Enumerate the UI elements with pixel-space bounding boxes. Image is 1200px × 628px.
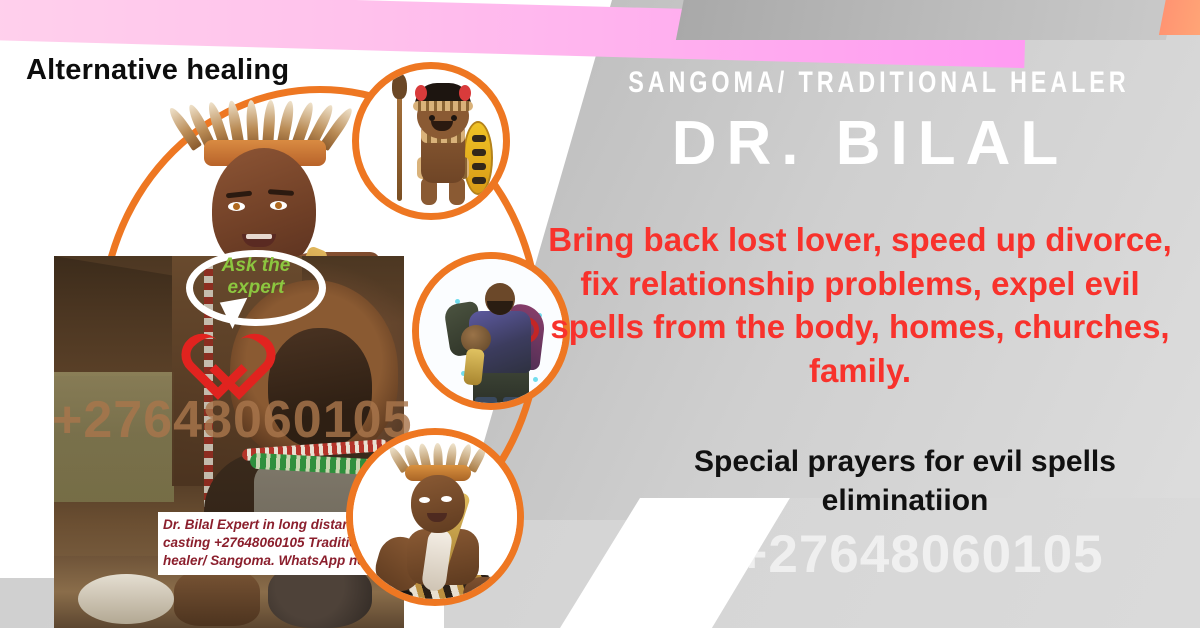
top-orange-bar [1159, 0, 1200, 35]
healer-portrait-illustration [168, 96, 378, 276]
thumbnail-zulu-warrior[interactable] [352, 62, 510, 220]
top-gray-bar [676, 0, 1176, 40]
hair-accent-left [415, 85, 427, 101]
spear-tip-icon [392, 73, 407, 99]
scroll [463, 348, 485, 386]
eye-right [441, 496, 452, 502]
head [411, 475, 465, 533]
phone-watermark-right[interactable]: +27648060105 [640, 524, 1200, 585]
eye-right [270, 201, 287, 210]
eye-left [419, 497, 430, 503]
sparkle-icon-4 [533, 377, 538, 382]
thumbnail-kneeling-sangoma[interactable] [346, 428, 524, 606]
page-title: DR. BILAL [560, 108, 1180, 179]
hands-holding-bones [174, 568, 260, 626]
eyebrow-heading: SANGOMA/ TRADITIONAL HEALER [628, 66, 1112, 100]
eye-left [228, 202, 245, 211]
special-prayers-text: Special prayers for evil spells eliminat… [620, 442, 1190, 520]
services-text: Bring back lost lover, speed up divorce,… [540, 218, 1180, 392]
hair-accent-right [459, 85, 471, 101]
calabash-bowl [78, 574, 174, 624]
poster-canvas: Alternative healing [0, 0, 1200, 628]
speech-bubble-text: Ask the expert [200, 255, 312, 300]
head-band [413, 101, 473, 111]
spear-icon [397, 83, 402, 201]
tagline: Alternative healing [26, 54, 289, 87]
